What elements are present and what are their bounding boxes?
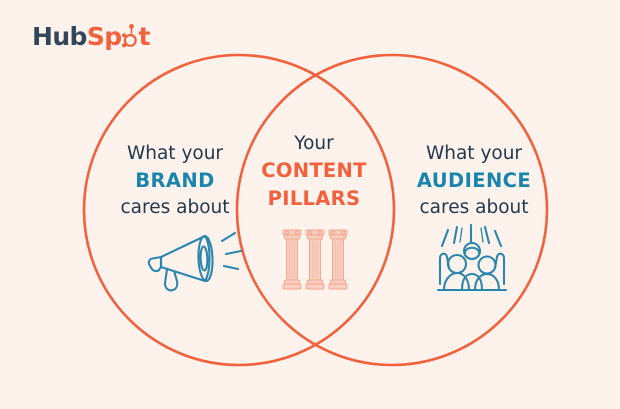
center-label-accent2: PILLARS xyxy=(258,185,370,213)
infographic-canvas: Hub Sp t What your BRAND cares about You… xyxy=(0,0,620,409)
right-circle-label: What your AUDIENCE cares about xyxy=(400,141,548,221)
center-label-line1: Your xyxy=(258,131,370,157)
crowd-icon xyxy=(432,224,512,296)
right-label-line3: cares about xyxy=(400,195,548,221)
pillars-icon xyxy=(281,224,349,292)
left-label-line3: cares about xyxy=(104,195,246,221)
right-label-accent: AUDIENCE xyxy=(400,167,548,195)
megaphone-icon xyxy=(145,227,245,293)
left-circle-label: What your BRAND cares about xyxy=(104,141,246,221)
left-label-line1: What your xyxy=(104,141,246,167)
center-label-accent1: CONTENT xyxy=(258,157,370,185)
left-label-accent: BRAND xyxy=(104,167,246,195)
right-label-line1: What your xyxy=(400,141,548,167)
intersection-label: Your CONTENT PILLARS xyxy=(258,131,370,213)
